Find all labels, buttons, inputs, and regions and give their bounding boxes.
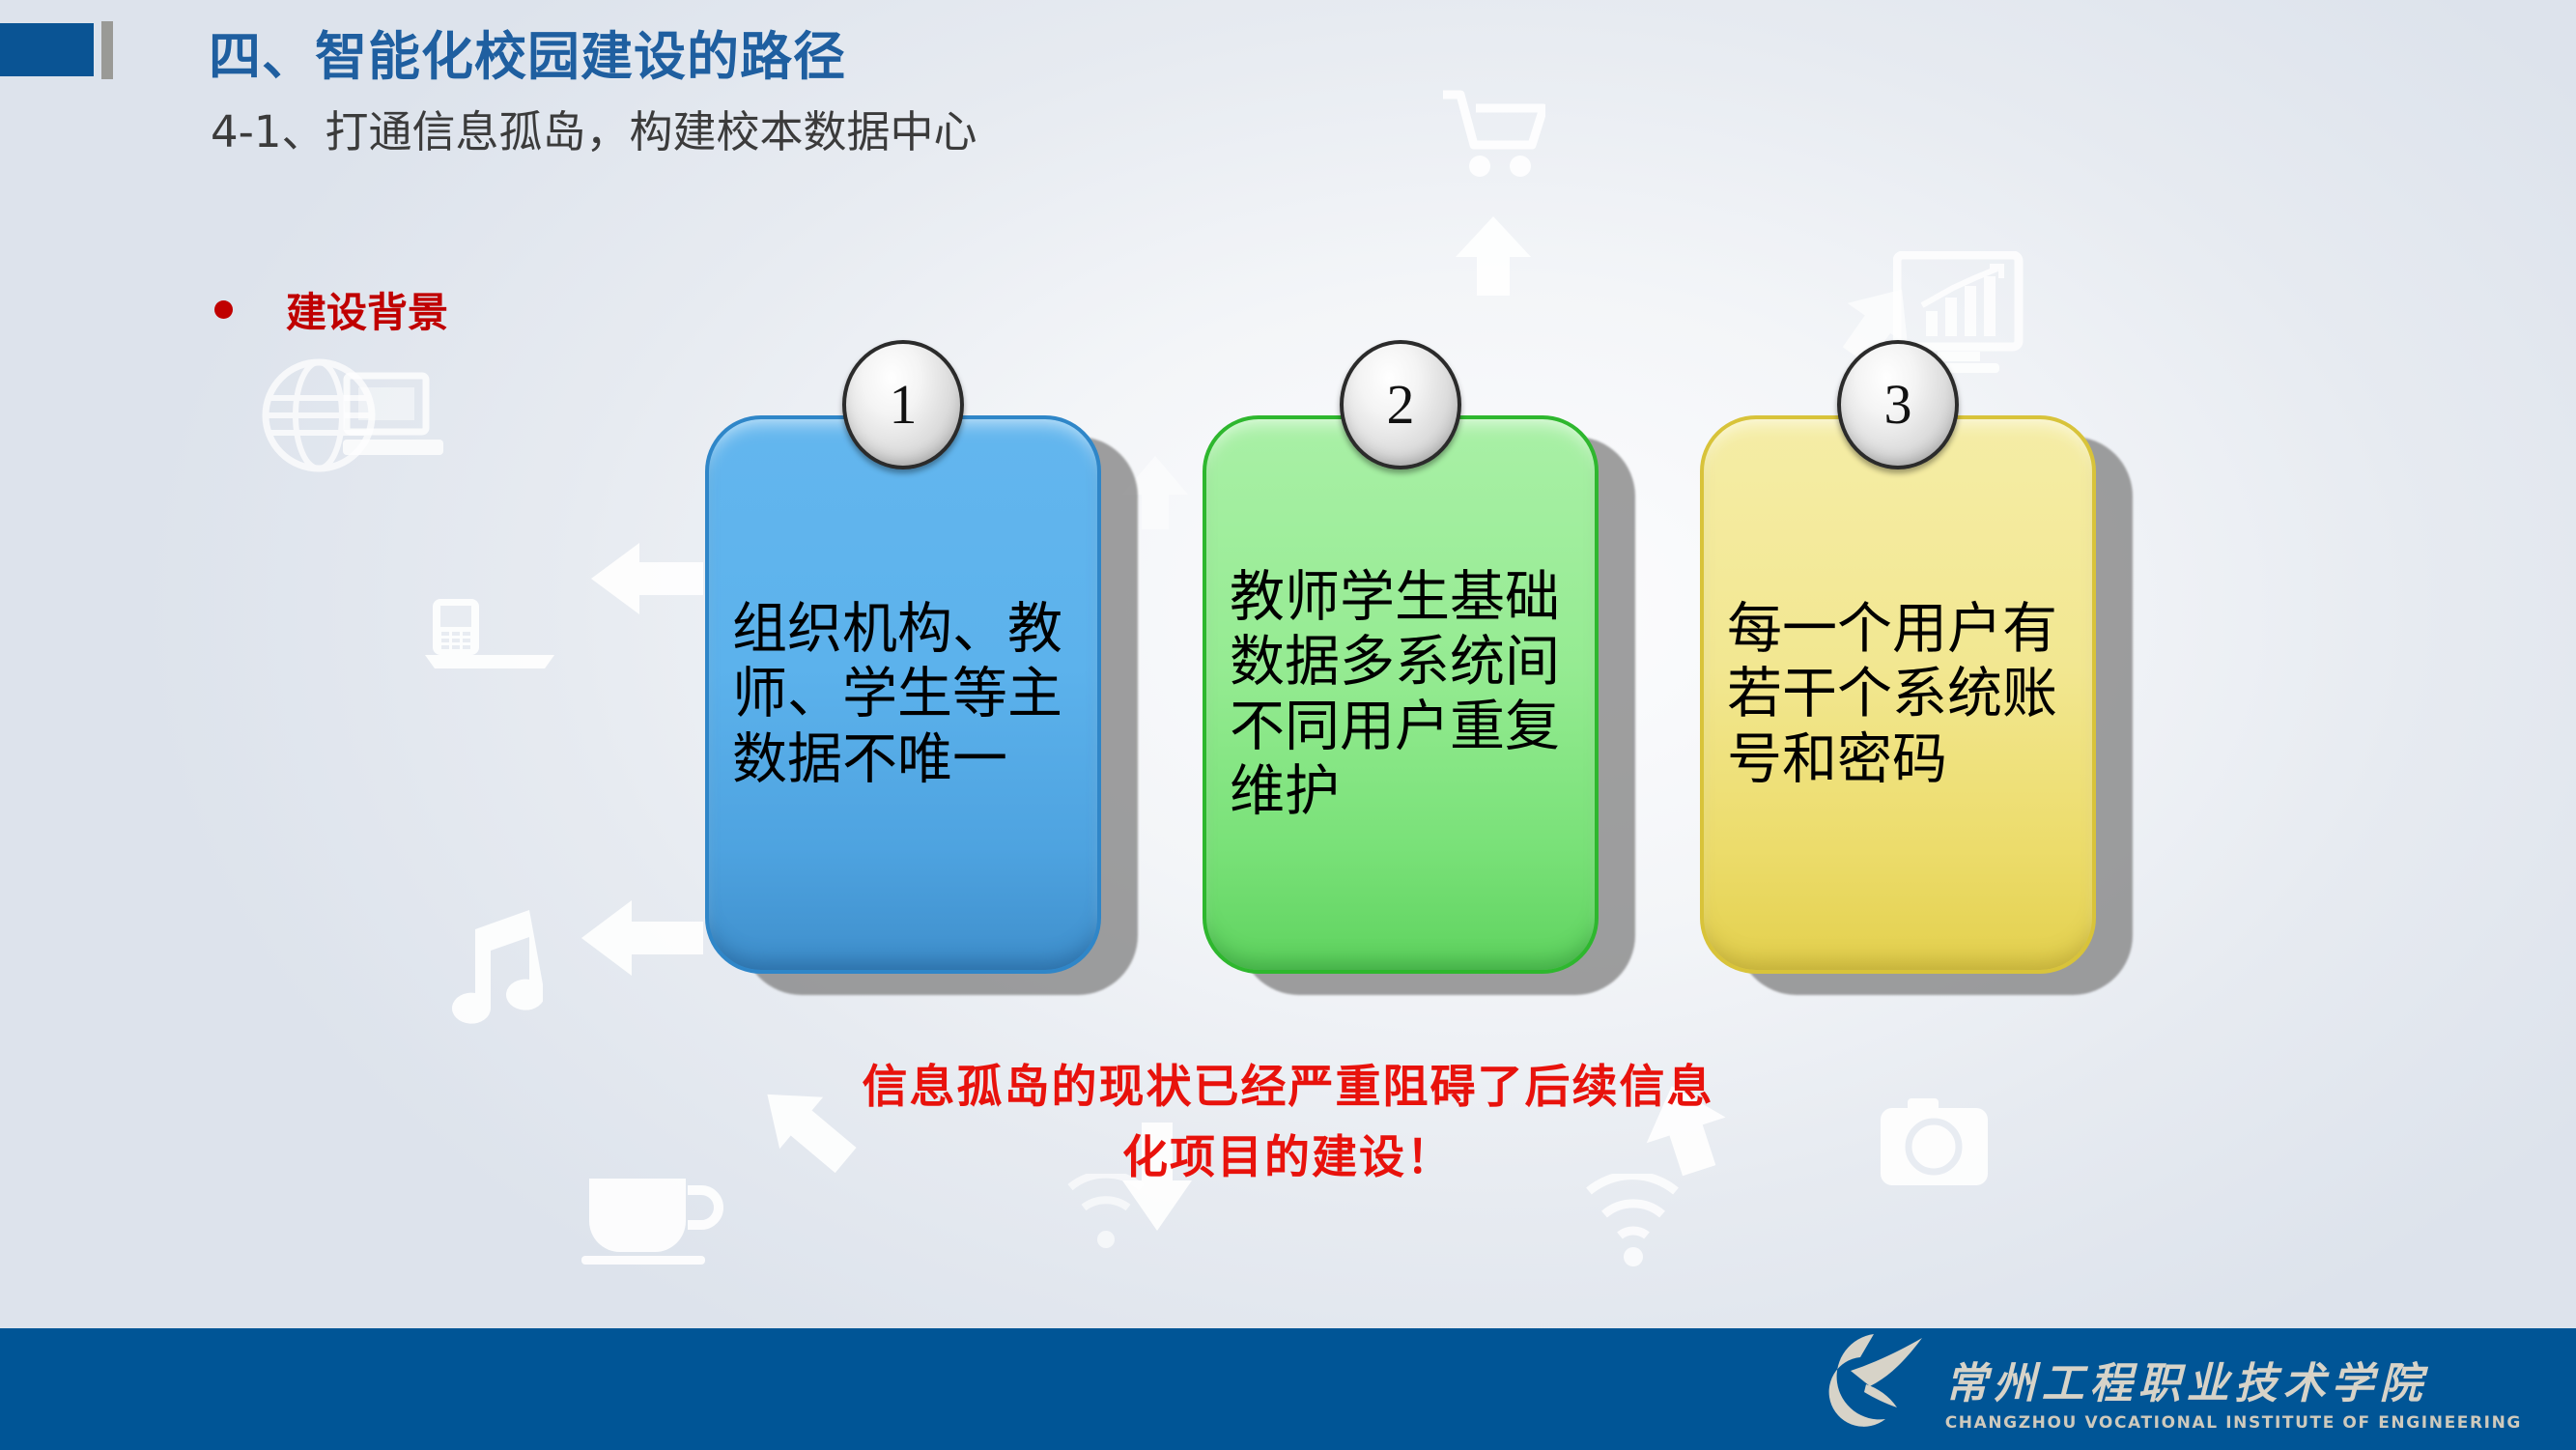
institution-emblem-icon [1822, 1328, 1926, 1433]
institution-name: 常州工程职业技术学院 CHANGZHOU VOCATIONAL INSTITUT… [1945, 1362, 2522, 1433]
footer-bar: 常州工程职业技术学院 CHANGZHOU VOCATIONAL INSTITUT… [0, 1328, 2576, 1450]
institution-name-cn: 常州工程职业技术学院 [1945, 1362, 2428, 1407]
box-number: 3 [1884, 377, 1912, 433]
box-body: 每一个用户有若干个系统账号和密码 [1700, 415, 2096, 974]
box-number-badge: 2 [1340, 340, 1461, 469]
box-number-badge: 1 [842, 340, 964, 469]
institution-logo: 常州工程职业技术学院 CHANGZHOU VOCATIONAL INSTITUT… [1822, 1328, 2522, 1433]
slide-canvas: 四、智能化校园建设的路径 4-1、打通信息孤岛，构建校本数据中心 建设背景 组织… [0, 0, 2576, 1450]
box-text: 教师学生基础数据多系统间不同用户重复维护 [1206, 565, 1595, 825]
box-text: 组织机构、教师、学生等主数据不唯一 [709, 597, 1097, 792]
callout-box-group: 组织机构、教师、学生等主数据不唯一 1 教师学生基础数据多系统间不同用户重复维护… [0, 0, 2576, 1450]
institution-name-en: CHANGZHOU VOCATIONAL INSTITUTE OF ENGINE… [1945, 1413, 2522, 1433]
box-body: 组织机构、教师、学生等主数据不唯一 [705, 415, 1101, 974]
callout-box-2[interactable]: 教师学生基础数据多系统间不同用户重复维护 2 [1203, 415, 1599, 985]
box-text: 每一个用户有若干个系统账号和密码 [1704, 597, 2092, 792]
box-body: 教师学生基础数据多系统间不同用户重复维护 [1203, 415, 1599, 974]
callout-box-1[interactable]: 组织机构、教师、学生等主数据不唯一 1 [705, 415, 1101, 985]
box-number: 2 [1387, 377, 1415, 433]
callout-box-3[interactable]: 每一个用户有若干个系统账号和密码 3 [1700, 415, 2096, 985]
box-number-badge: 3 [1837, 340, 1959, 469]
conclusion-text: 信息孤岛的现状已经严重阻碍了后续信息 化项目的建设！ [0, 1053, 2576, 1194]
box-number: 1 [890, 377, 918, 433]
conclusion-line-1: 信息孤岛的现状已经严重阻碍了后续信息 [863, 1061, 1714, 1114]
conclusion-line-2: 化项目的建设！ [0, 1123, 2576, 1194]
